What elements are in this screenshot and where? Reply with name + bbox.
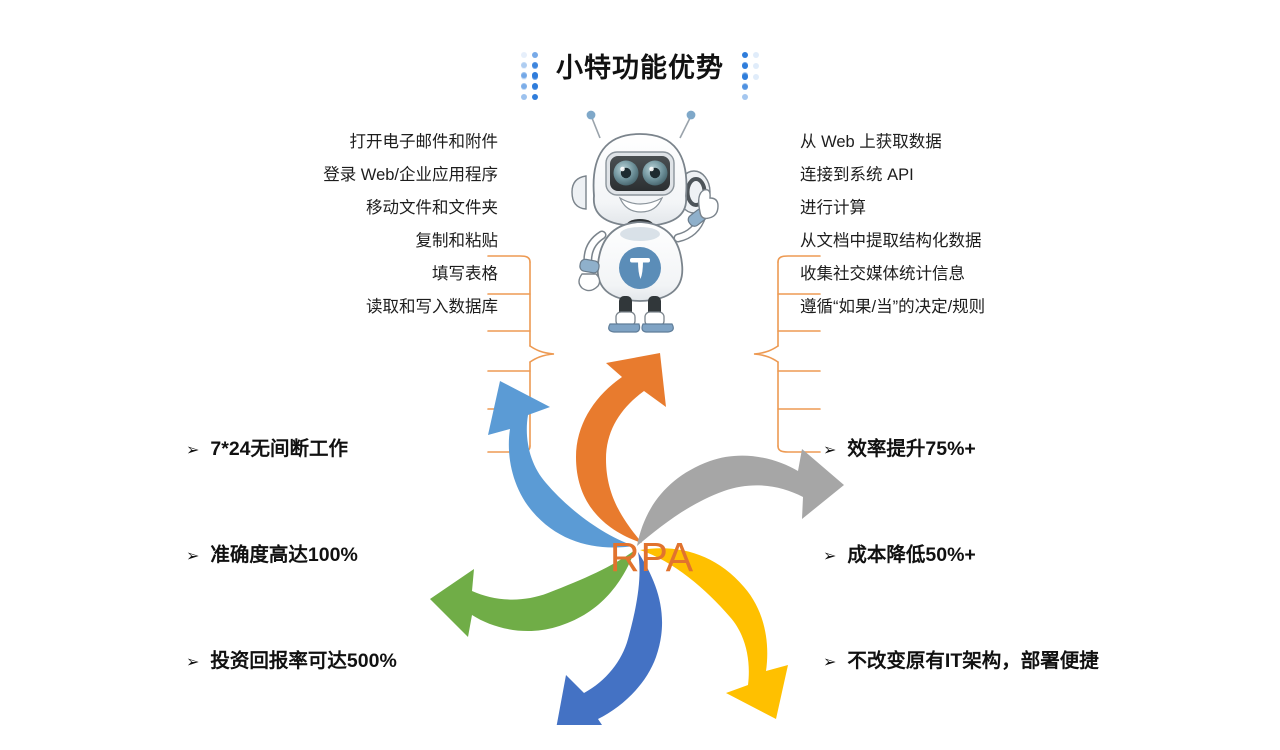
title-dot-column [742, 52, 748, 58]
capability-item: 收集社交媒体统计信息 [800, 258, 1130, 291]
rpa-spiral-diagram [430, 345, 850, 725]
benefit-label: 7*24无间断工作 [210, 432, 348, 461]
bullet-arrow-icon: ➢ [186, 549, 199, 565]
capability-item: 遵循“如果/当”的决定/规则 [800, 291, 1130, 324]
benefit-list-right: ➢ 效率提升75%+ ➢ 成本降低50%+ ➢ 不改变原有IT架构，部署便捷 [823, 432, 1223, 750]
benefit-item: ➢ 投资回报率可达500% [186, 644, 486, 750]
title-dot-column [532, 52, 538, 58]
capability-item: 复制和粘贴 [250, 225, 498, 258]
benefit-label: 不改变原有IT架构，部署便捷 [847, 644, 1098, 673]
title-dot-column [521, 72, 527, 78]
capability-item: 登录 Web/企业应用程序 [250, 159, 498, 192]
title-dot [532, 73, 538, 79]
capability-item: 从文档中提取结构化数据 [800, 225, 1130, 258]
benefit-label: 准确度高达100% [210, 538, 357, 567]
title-dot-column [753, 52, 759, 58]
benefit-item: ➢ 成本降低50%+ [823, 538, 1223, 644]
title-dot-column [532, 62, 538, 68]
capability-item: 连接到系统 API [800, 159, 1130, 192]
title-dot [742, 83, 748, 89]
benefit-item: ➢ 7*24无间断工作 [186, 432, 486, 538]
title-dot-column [742, 72, 748, 78]
title-dot [742, 52, 748, 58]
title-dot [521, 62, 527, 68]
title-dots-left [521, 52, 538, 78]
antenna-tip-icon [687, 111, 696, 120]
capability-item: 从 Web 上获取数据 [800, 126, 1130, 159]
slide-title-band: 小特功能优势 [0, 38, 1280, 92]
title-dot [532, 94, 538, 100]
benefit-item: ➢ 效率提升75%+ [823, 432, 1223, 538]
title-dot [742, 72, 748, 78]
robot-cuff-left [579, 259, 600, 274]
robot-ear-left [572, 176, 586, 209]
spiral-arrow-yellow [640, 548, 788, 719]
capability-item: 进行计算 [800, 192, 1130, 225]
title-dot [521, 83, 527, 89]
benefit-item: ➢ 准确度高达100% [186, 538, 486, 644]
title-dot [742, 94, 748, 100]
bullet-arrow-icon: ➢ [186, 655, 199, 671]
title-dot [521, 52, 527, 58]
title-dot [753, 74, 759, 80]
benefit-item: ➢ 不改变原有IT架构，部署便捷 [823, 644, 1223, 750]
capability-item: 填写表格 [250, 258, 498, 291]
robot-hand-pointing [699, 190, 718, 219]
title-dot [753, 52, 759, 58]
bullet-arrow-icon: ➢ [823, 443, 836, 459]
capability-list-right: 从 Web 上获取数据 连接到系统 API 进行计算 从文档中提取结构化数据 收… [800, 126, 1130, 324]
bullet-arrow-icon: ➢ [823, 655, 836, 671]
page-title: 小特功能优势 [556, 46, 724, 85]
robot-mascot-icon [548, 100, 738, 335]
antenna-tip-icon [587, 111, 596, 120]
bullet-arrow-icon: ➢ [823, 549, 836, 565]
capability-item: 移动文件和文件夹 [250, 192, 498, 225]
robot-hand-left [579, 274, 600, 291]
title-dot [532, 62, 538, 68]
title-dot [521, 72, 527, 78]
title-dots-right [742, 52, 759, 78]
title-dot-column [742, 62, 748, 68]
benefit-label: 效率提升75%+ [847, 432, 975, 461]
capability-list-left: 打开电子邮件和附件 登录 Web/企业应用程序 移动文件和文件夹 复制和粘贴 填… [250, 126, 498, 324]
benefit-list-left: ➢ 7*24无间断工作 ➢ 准确度高达100% ➢ 投资回报率可达500% [186, 432, 486, 750]
bullet-arrow-icon: ➢ [186, 443, 199, 459]
capability-item: 打开电子邮件和附件 [250, 126, 498, 159]
title-dot-column [521, 62, 527, 68]
robot-boot-left [609, 324, 640, 332]
benefit-label: 投资回报率可达500% [210, 644, 396, 673]
spiral-arrow-gray [637, 449, 844, 546]
title-dot [742, 62, 748, 68]
capability-item: 读取和写入数据库 [250, 291, 498, 324]
slide-canvas: 小特功能优势 打开电子邮件和附件 登录 Web/企业应用程序 移动文件和文件夹 … [0, 0, 1280, 720]
title-dot [521, 94, 527, 100]
title-dot [532, 84, 538, 90]
title-dot-column [521, 52, 527, 58]
benefit-label: 成本降低50%+ [847, 538, 975, 567]
robot-boot-right [642, 324, 673, 332]
title-dot [753, 63, 759, 69]
title-dot [532, 52, 538, 58]
